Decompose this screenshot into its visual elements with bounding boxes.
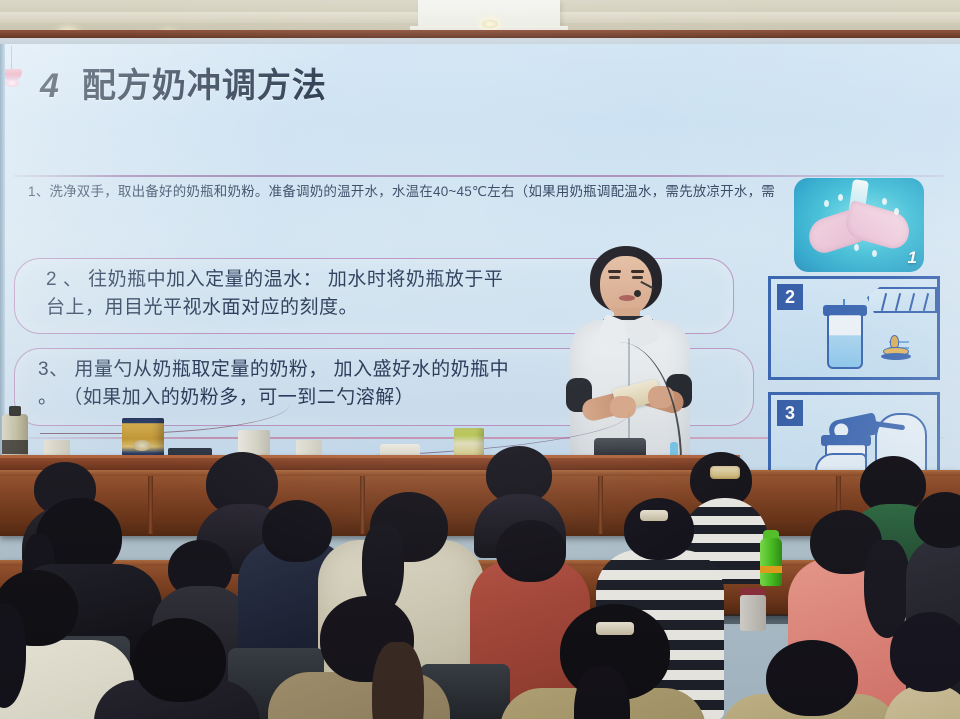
pendant-lamp-glow	[5, 79, 19, 87]
pendant-lamp-wire	[11, 46, 12, 70]
head	[134, 618, 226, 702]
slide-divider-top	[14, 175, 944, 177]
desk-panel-seam-1	[148, 476, 153, 534]
ponytail	[372, 642, 424, 719]
head	[262, 500, 332, 562]
presenter-eye-left	[609, 276, 620, 279]
illustration-panel-2: 2	[768, 276, 940, 380]
demo-table-highlight	[0, 455, 740, 458]
illustration-panel-1: 1	[794, 178, 924, 272]
head	[624, 498, 694, 560]
head	[766, 640, 858, 716]
photo-canvas: 4配方奶冲调方法 1、洗净双手，取出备好的奶瓶和奶粉。准备调奶的温开水，水温在4…	[0, 0, 960, 719]
green-thermos	[760, 538, 782, 586]
hair-clip-front-icon	[596, 622, 634, 635]
hair-clip-gold-icon	[710, 466, 740, 479]
slide-title-number: 4	[40, 67, 60, 105]
presenter-brow-right	[631, 270, 644, 273]
head	[914, 492, 960, 548]
demo-formula-tin-blue	[122, 418, 164, 458]
hair-clip-pearl-icon	[640, 510, 668, 521]
water-drop-4	[894, 208, 899, 215]
water-drop-5	[854, 244, 859, 251]
presenter-mouth	[619, 295, 635, 301]
slide-title: 4配方奶冲调方法	[40, 58, 327, 107]
water-jug-icon	[867, 287, 937, 313]
desk-panel-seam-2	[360, 476, 365, 534]
head	[890, 612, 960, 692]
desk-row-back-top	[0, 470, 960, 476]
presenter-eye-right	[632, 276, 643, 279]
presenter-face	[600, 256, 652, 316]
screen-left-edge	[0, 44, 5, 474]
slide-title-text: 配方奶冲调方法	[82, 67, 327, 105]
downlight-3	[482, 20, 498, 28]
illustration-1-step-number: 1	[908, 248, 917, 268]
headset-microphone-capsule	[634, 290, 641, 297]
water-drop-1	[824, 200, 829, 207]
desk-panel-seam-3	[598, 476, 603, 534]
water-drop-2	[838, 194, 843, 201]
presenter-brow-left	[608, 270, 621, 273]
illustration-3-step-number: 3	[777, 400, 803, 426]
head	[496, 520, 566, 582]
water-drop-3	[882, 198, 887, 205]
baby-bottle-icon	[827, 313, 863, 369]
slide-body-line-1: 1、洗净双手，取出备好的奶瓶和奶粉。准备调奶的温开水，水温在40~45℃左右（如…	[28, 184, 908, 200]
bottle-nipple-icon	[883, 335, 909, 355]
steel-flask	[740, 595, 766, 631]
water-drop-6	[872, 250, 877, 257]
illustration-2-step-number: 2	[777, 284, 803, 310]
